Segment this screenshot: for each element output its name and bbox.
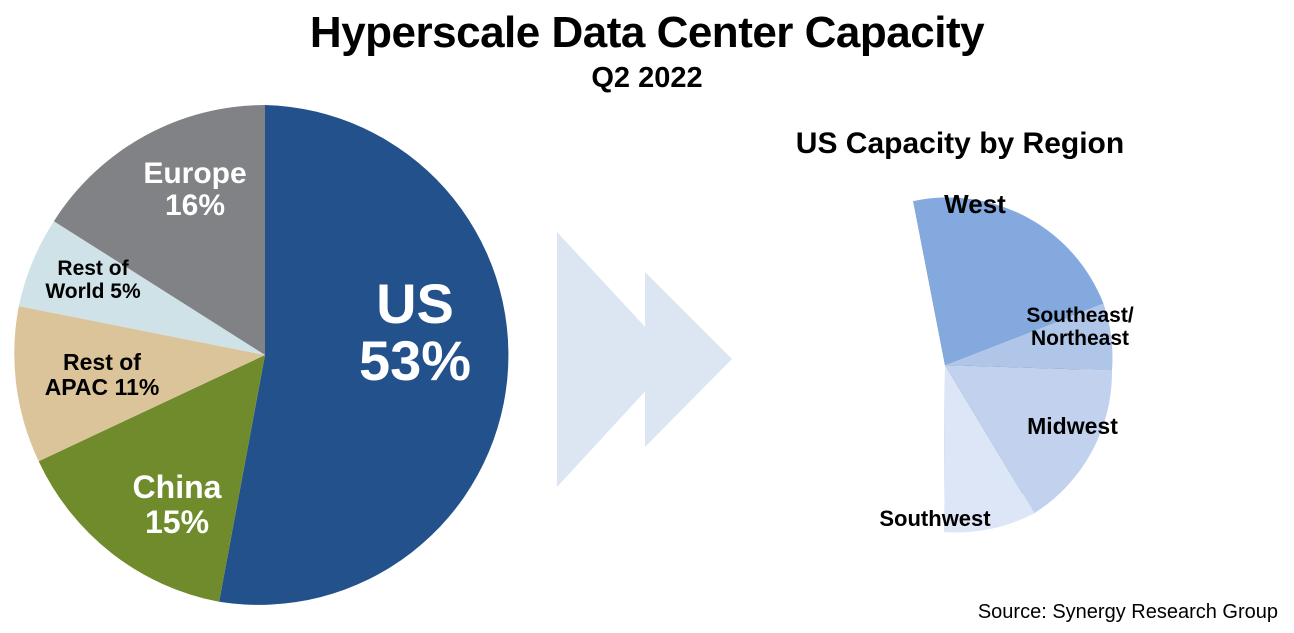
right-chart-title: US Capacity by Region (745, 127, 1175, 161)
page-subtitle: Q2 2022 (0, 62, 1294, 95)
page-title: Hyperscale Data Center Capacity (0, 8, 1294, 58)
global-capacity-pie-chart (15, 105, 515, 605)
source-attribution: Source: Synergy Research Group (978, 601, 1278, 624)
us-region-pie-chart (778, 198, 1112, 532)
double-chevron-right-icon (557, 232, 732, 492)
